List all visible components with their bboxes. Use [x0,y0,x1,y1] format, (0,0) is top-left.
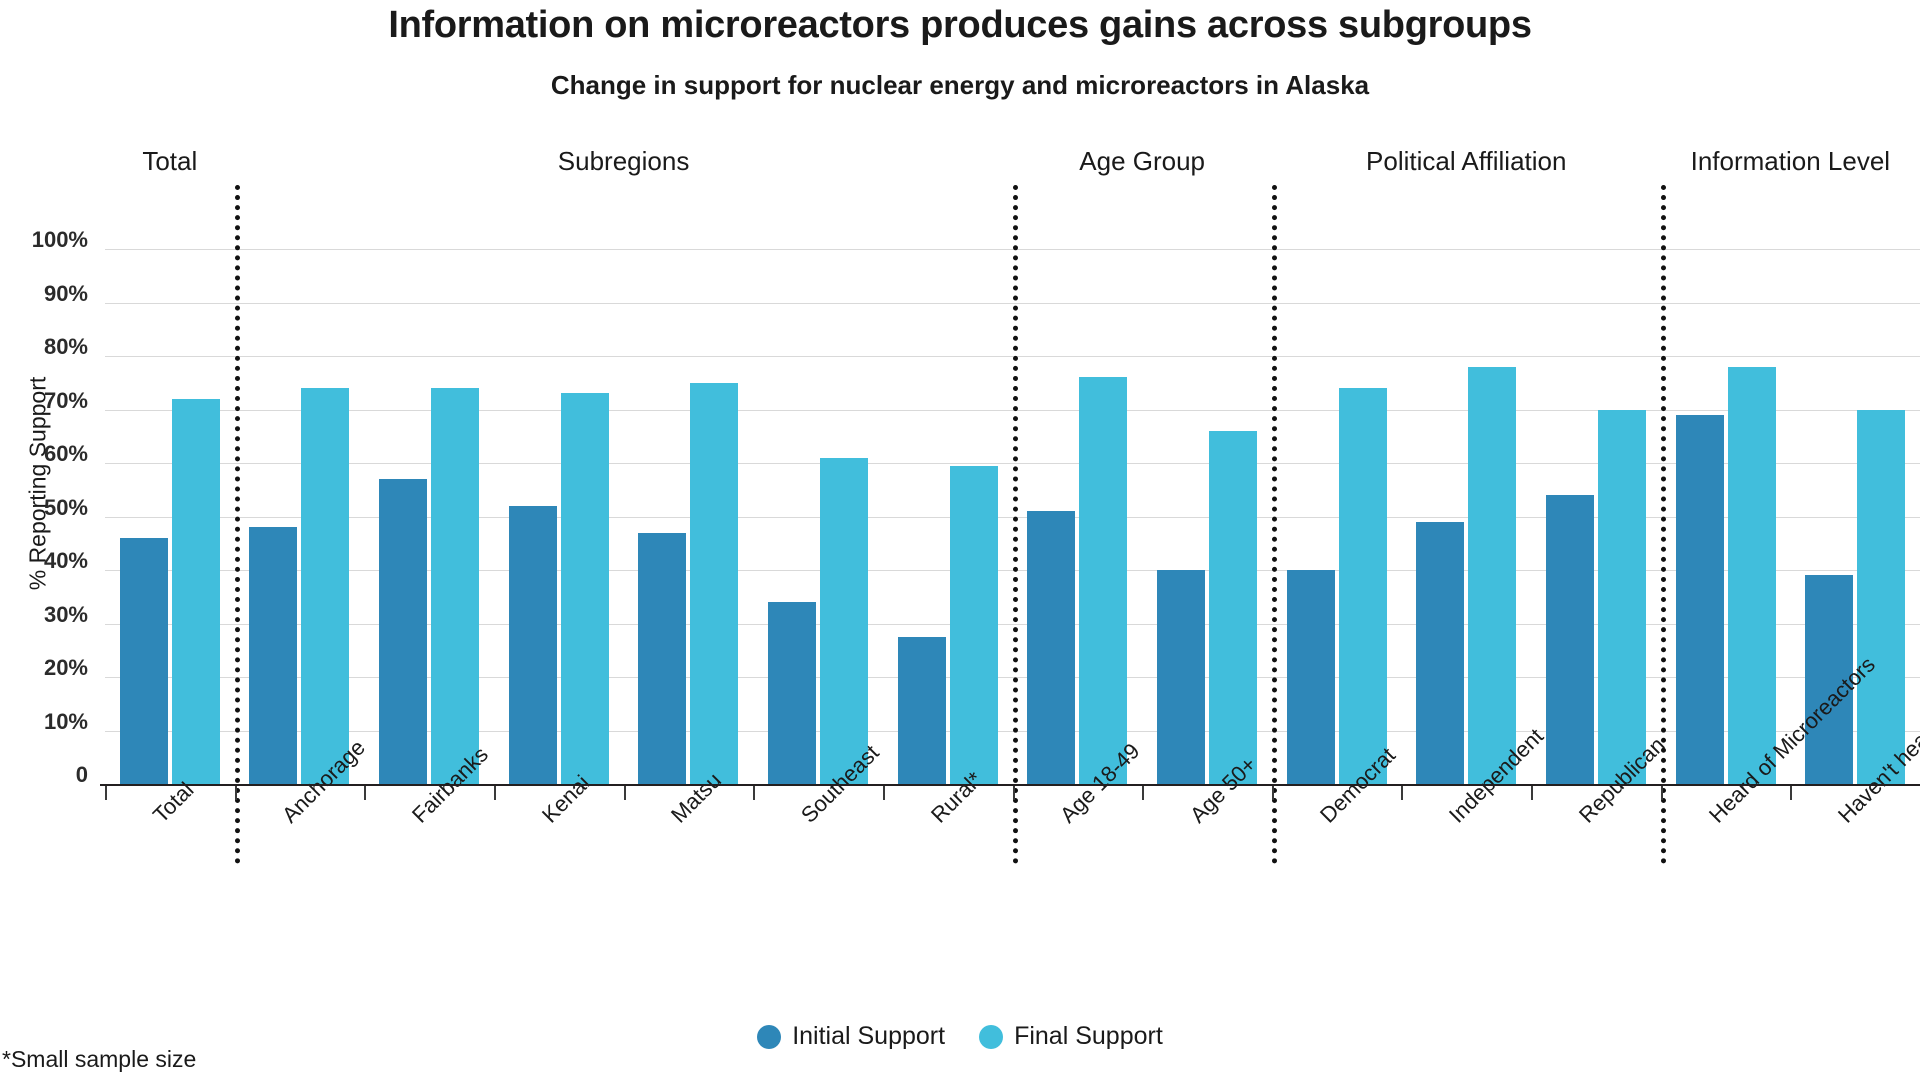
bar-final[interactable] [950,466,998,784]
x-tick-mark [1401,786,1403,800]
x-axis-baseline [100,784,1920,786]
x-tick-mark [1013,786,1015,800]
bar-initial[interactable] [638,533,686,784]
legend-item[interactable]: Final Support [979,1022,1163,1051]
x-tick-mark [105,786,107,800]
footnote: *Small sample size [2,1046,196,1073]
x-tick-mark [1272,786,1274,800]
bar-final[interactable] [1857,410,1905,785]
y-tick-label: 100% [0,227,88,256]
bar-final[interactable] [1598,410,1646,785]
bar-final[interactable] [690,383,738,784]
bar-final[interactable] [172,399,220,784]
x-tick-mark [1661,786,1663,800]
bar-final[interactable] [820,458,868,784]
chart-legend: Initial SupportFinal Support [0,1022,1920,1051]
x-tick-mark [235,786,237,800]
legend-item[interactable]: Initial Support [757,1022,945,1051]
legend-label: Initial Support [792,1022,945,1051]
bar-initial[interactable] [1157,570,1205,784]
y-tick-label: 90% [0,281,88,310]
bar-initial[interactable] [898,637,946,784]
group-header: Subregions [558,146,690,177]
bar-final[interactable] [431,388,479,784]
x-tick-mark [1531,786,1533,800]
bar-initial[interactable] [1416,522,1464,784]
y-tick-label: 60% [0,441,88,470]
bar-initial[interactable] [379,479,427,784]
group-header: Political Affiliation [1366,146,1566,177]
group-divider [1013,185,1018,864]
y-tick-label: 30% [0,602,88,631]
bar-initial[interactable] [249,527,297,784]
group-header: Age Group [1079,146,1205,177]
bar-final[interactable] [1468,367,1516,784]
x-tick-mark [883,786,885,800]
x-tick-mark [364,786,366,800]
y-tick-label: 70% [0,388,88,417]
bar-final[interactable] [1339,388,1387,784]
group-divider [235,185,240,864]
x-tick-mark [753,786,755,800]
bar-final[interactable] [561,393,609,784]
bar-initial[interactable] [120,538,168,784]
y-tick-label: 80% [0,334,88,363]
bar-final[interactable] [1079,377,1127,784]
y-tick-label: 40% [0,548,88,577]
bar-initial[interactable] [509,506,557,784]
x-tick-mark [624,786,626,800]
bar-initial[interactable] [1676,415,1724,784]
legend-swatch-circle-icon [979,1025,1003,1049]
bar-final[interactable] [1209,431,1257,784]
y-tick-label: 10% [0,709,88,738]
x-tick-mark [1790,786,1792,800]
legend-label: Final Support [1014,1022,1163,1051]
chart-plot-area: % Reporting Support 100%90%80%70%60%50%4… [0,0,1920,1080]
group-divider [1272,185,1277,864]
group-divider [1661,185,1666,864]
legend-swatch-circle-icon [757,1025,781,1049]
x-tick-mark [494,786,496,800]
x-tick-mark [1142,786,1144,800]
bar-final[interactable] [1728,367,1776,784]
group-header: Information Level [1691,146,1890,177]
group-header: Total [142,146,197,177]
y-tick-label: 0 [0,762,88,791]
bar-initial[interactable] [1546,495,1594,784]
bar-final[interactable] [301,388,349,784]
y-tick-label: 20% [0,655,88,684]
bar-initial[interactable] [768,602,816,784]
bar-initial[interactable] [1287,570,1335,784]
y-tick-label: 50% [0,495,88,524]
bar-initial[interactable] [1027,511,1075,784]
